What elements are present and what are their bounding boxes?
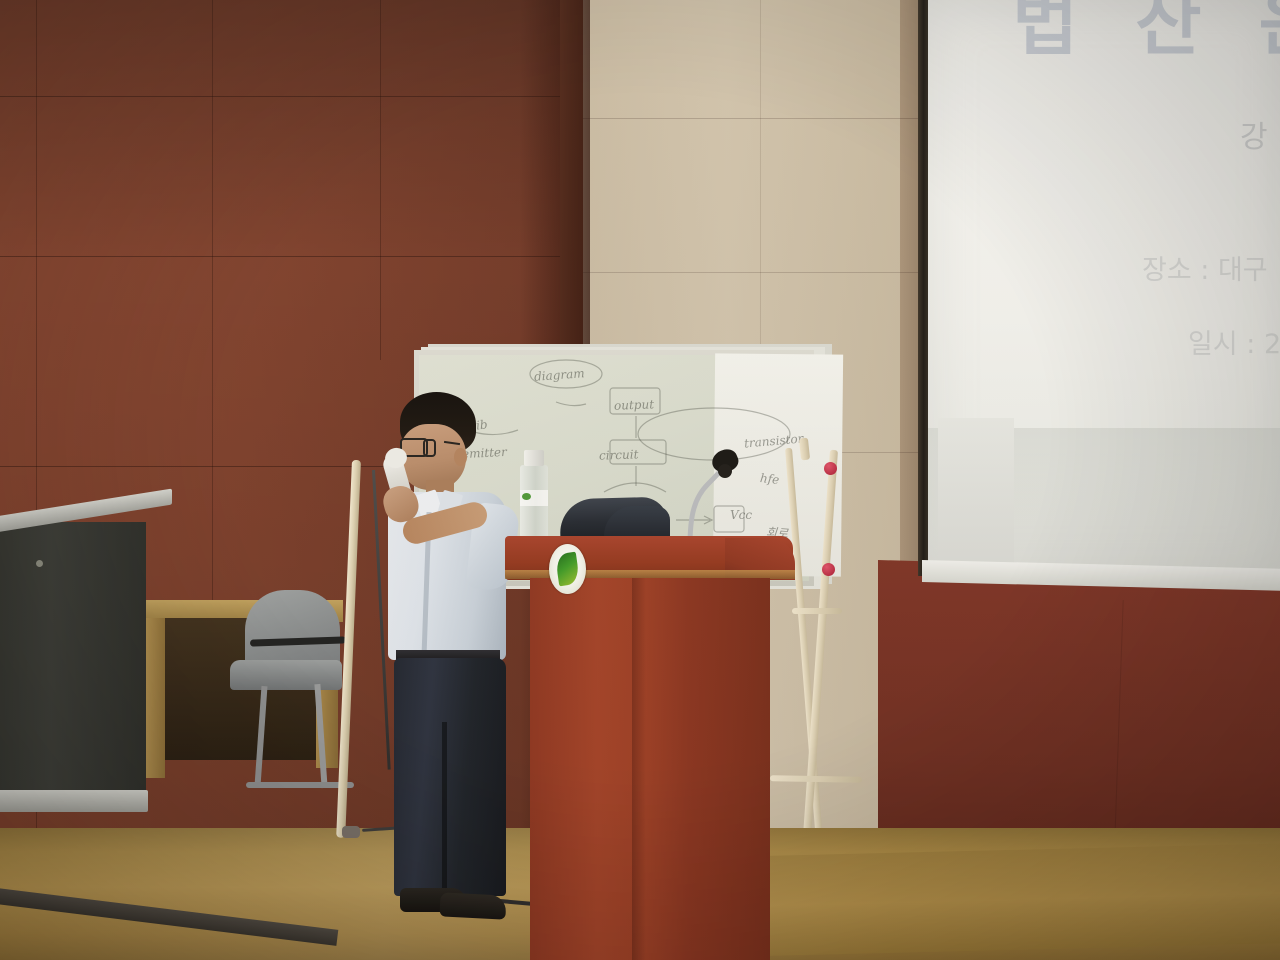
- trousers: [394, 658, 506, 896]
- projected-line-1: 강: [1240, 112, 1268, 156]
- podium-corner-shadow: [632, 578, 646, 960]
- leaf-icon: [555, 552, 580, 587]
- podium-body: [530, 578, 770, 960]
- mic-capsule-tip: [718, 464, 732, 478]
- screen-left-border: [918, 0, 928, 576]
- projected-title: 법 산 운: [1012, 0, 1280, 69]
- glasses-icon: [423, 439, 436, 457]
- wall-seam: [583, 272, 943, 273]
- lectern-screw: [36, 560, 43, 567]
- projection-screen: [928, 0, 1280, 578]
- gooseneck-microphone: [686, 450, 732, 546]
- chair-seat: [230, 660, 342, 690]
- leaf-emblem: [549, 544, 586, 594]
- screen-paper-panel: [938, 418, 1014, 568]
- shoe-right: [439, 892, 506, 919]
- speaker-person: [366, 392, 536, 932]
- bottle-cap: [524, 450, 544, 466]
- side-lectern: [0, 522, 146, 812]
- bottle-logo: [522, 493, 531, 500]
- trouser-leg-seam: [442, 722, 447, 898]
- wall-seam: [583, 118, 943, 119]
- easel-crossbar-upper: [792, 608, 842, 614]
- projected-line-2: 장소 : 대구: [1142, 248, 1268, 287]
- wall-seam: [380, 0, 381, 360]
- table-leg-left: [143, 618, 165, 778]
- ear: [454, 448, 467, 466]
- wall-seam: [0, 256, 560, 257]
- projected-line-3: 일시 : 2: [1188, 322, 1280, 361]
- easel-knob-upper: [824, 462, 837, 475]
- chair-backrest: [245, 590, 340, 668]
- wall-seam: [212, 0, 213, 600]
- wall-seam: [0, 96, 560, 97]
- photo-scene: 법 산 운 강 장소 : 대구 일시 : 2 diagramoutputtran…: [0, 0, 1280, 960]
- easel-knob-lower: [822, 563, 835, 576]
- lectern-base: [0, 790, 148, 812]
- water-bottle: [519, 450, 549, 538]
- microphone-stand-foot: [342, 826, 360, 838]
